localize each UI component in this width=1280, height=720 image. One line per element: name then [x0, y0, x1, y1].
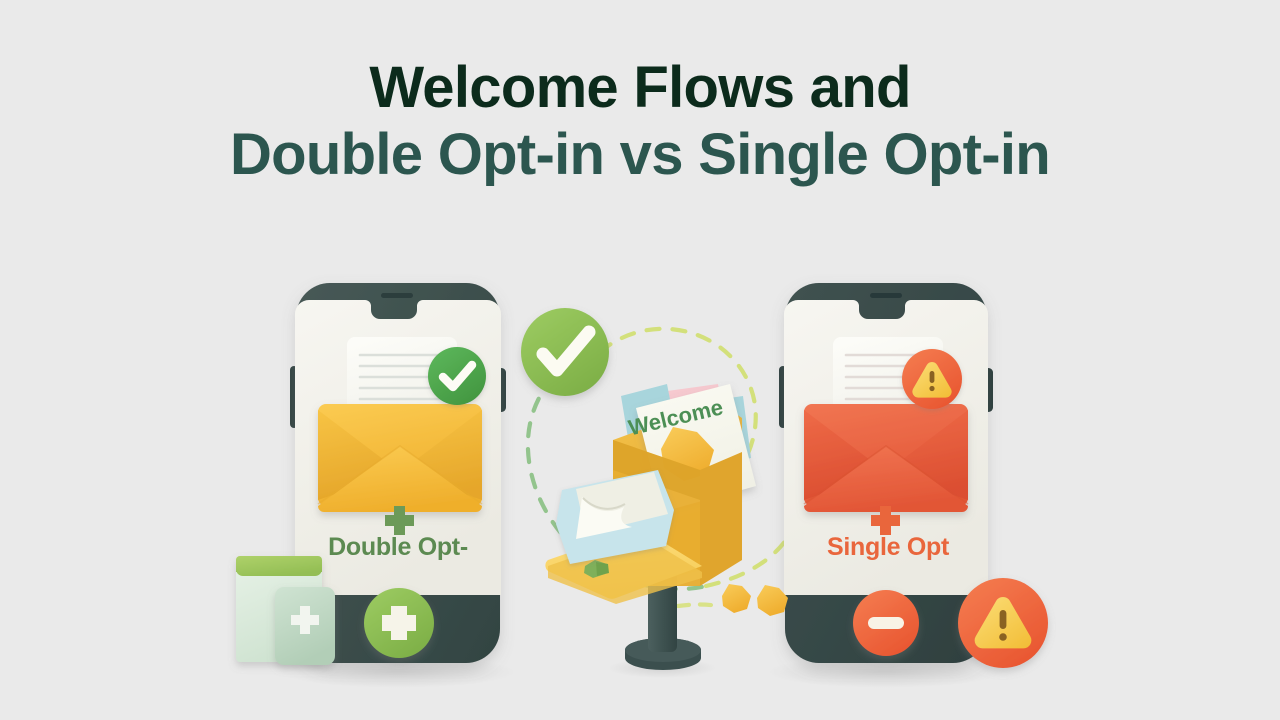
opt-in-comparison-illustration: Double Opt- Single Opt Welcome	[0, 0, 1280, 720]
mailbox-right-side	[700, 452, 742, 586]
double-opt-in-phone[interactable]	[236, 283, 516, 688]
minus-button[interactable]	[853, 590, 919, 656]
single-opt-in-caption: Single Opt	[790, 533, 986, 562]
cube-front-with-plus	[275, 587, 335, 665]
warning-badge-icon	[902, 349, 962, 409]
check-badge-icon	[428, 347, 486, 405]
single-opt-in-phone[interactable]	[767, 283, 1048, 688]
check-circle-icon[interactable]	[521, 308, 609, 396]
double-opt-in-caption: Double Opt-	[300, 533, 496, 562]
sparkle-stars	[722, 584, 788, 616]
envelope-right	[804, 404, 968, 512]
envelope	[318, 404, 482, 512]
slide-canvas: Welcome Flows and Double Opt-in vs Singl…	[0, 0, 1280, 720]
phone-speaker-slot	[381, 293, 413, 298]
warning-button[interactable]	[958, 578, 1048, 668]
plus-button[interactable]	[364, 588, 434, 658]
phone-speaker-slot-right	[870, 293, 902, 298]
